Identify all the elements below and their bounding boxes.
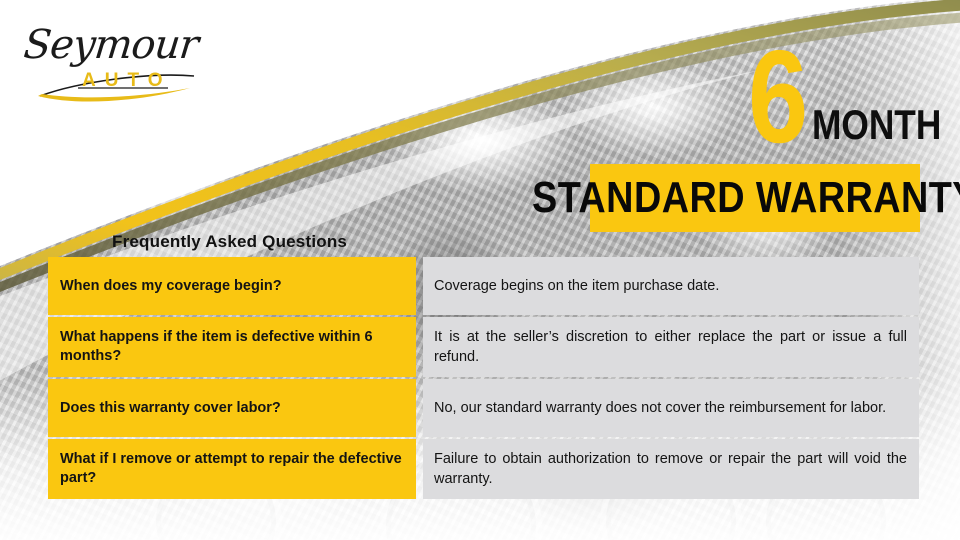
faq-answer-cell: Failure to obtain authorization to remov… bbox=[423, 439, 919, 499]
faq-question-cell: What happens if the item is defective wi… bbox=[48, 317, 416, 377]
faq-cell-gap bbox=[416, 439, 423, 499]
faq-answer-cell: Coverage begins on the item purchase dat… bbox=[423, 257, 919, 315]
faq-question-cell: Does this warranty cover labor? bbox=[48, 379, 416, 437]
faq-question-text: What happens if the item is defective wi… bbox=[60, 328, 404, 366]
faq-question-text: Does this warranty cover labor? bbox=[60, 399, 281, 418]
faq-answer-text: It is at the seller’s discretion to eith… bbox=[434, 327, 907, 367]
faq-answer-text: Coverage begins on the item purchase dat… bbox=[434, 276, 907, 296]
faq-table: When does my coverage begin? Coverage be… bbox=[48, 257, 919, 501]
faq-cell-gap bbox=[416, 257, 423, 315]
faq-heading: Frequently Asked Questions bbox=[112, 232, 347, 252]
faq-answer-text: Failure to obtain authorization to remov… bbox=[434, 449, 907, 489]
faq-answer-text: No, our standard warranty does not cover… bbox=[434, 398, 907, 418]
brand-logo: Seymour AUTO bbox=[18, 14, 218, 109]
faq-answer-cell: No, our standard warranty does not cover… bbox=[423, 379, 919, 437]
faq-question-text: What if I remove or attempt to repair th… bbox=[60, 450, 404, 488]
faq-question-cell: When does my coverage begin? bbox=[48, 257, 416, 315]
table-row: When does my coverage begin? Coverage be… bbox=[48, 257, 919, 315]
faq-question-cell: What if I remove or attempt to repair th… bbox=[48, 439, 416, 499]
table-row: What happens if the item is defective wi… bbox=[48, 317, 919, 377]
faq-cell-gap bbox=[416, 379, 423, 437]
brand-logo-swoosh-icon bbox=[18, 14, 218, 109]
standard-warranty-banner: STANDARD WARRANTY bbox=[590, 164, 920, 232]
table-row: Does this warranty cover labor? No, our … bbox=[48, 379, 919, 437]
warranty-slide: Seymour AUTO 6 MONTH STANDARD WARRANTY F… bbox=[0, 0, 960, 540]
warranty-term-number: 6 bbox=[748, 38, 805, 156]
table-row: What if I remove or attempt to repair th… bbox=[48, 439, 919, 499]
faq-question-text: When does my coverage begin? bbox=[60, 277, 282, 296]
faq-answer-cell: It is at the seller’s discretion to eith… bbox=[423, 317, 919, 377]
warranty-term-unit: MONTH bbox=[812, 104, 941, 146]
standard-warranty-banner-text: STANDARD WARRANTY bbox=[532, 176, 960, 220]
brand-logo-subtitle: AUTO bbox=[82, 70, 171, 92]
faq-cell-gap bbox=[416, 317, 423, 377]
